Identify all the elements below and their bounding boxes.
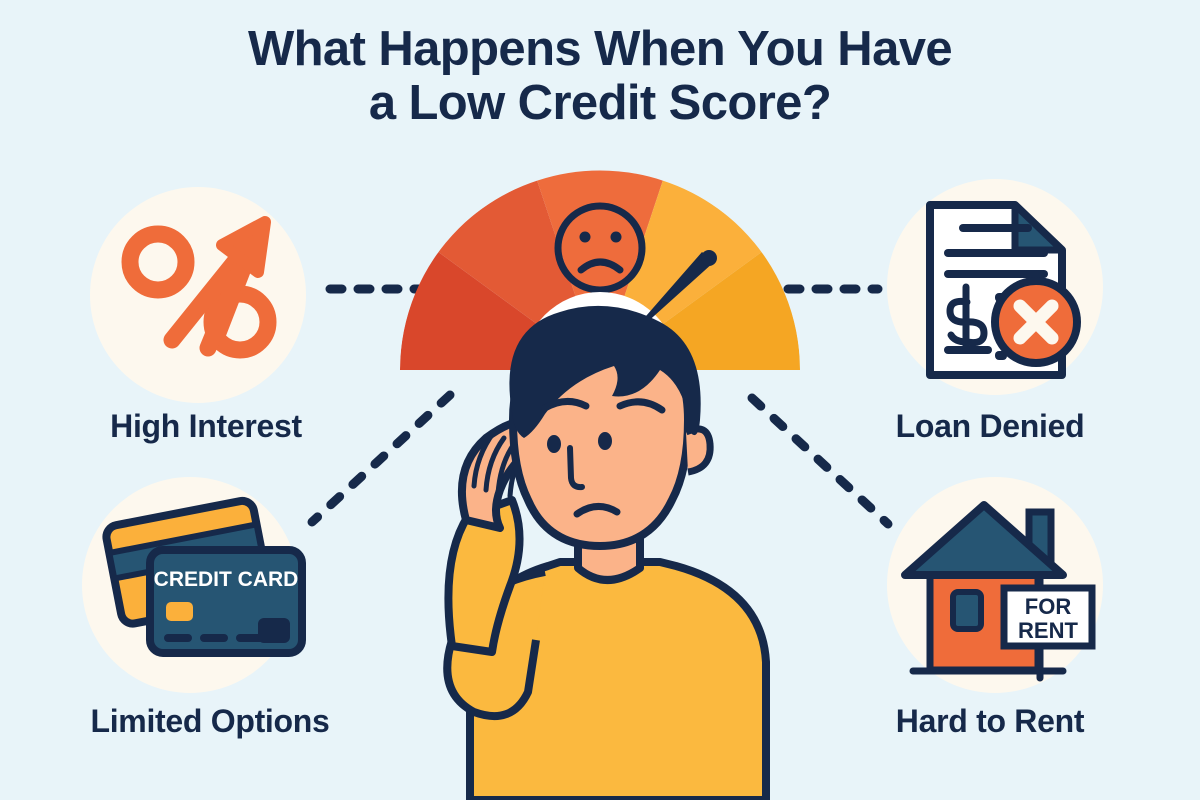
credit-card-text: CREDIT CARD bbox=[154, 568, 299, 591]
page-title: What Happens When You Have a Low Credit … bbox=[0, 22, 1200, 131]
person-eye-right bbox=[598, 432, 612, 450]
page-title-line-1: What Happens When You Have bbox=[0, 22, 1200, 76]
gauge-needle-tip bbox=[701, 250, 717, 266]
for-rent-sign-line1: FOR bbox=[1025, 594, 1072, 619]
person-eye-left bbox=[547, 435, 561, 453]
node-label-high-interest: High Interest bbox=[56, 408, 356, 445]
node-label-hard-to-rent: Hard to Rent bbox=[840, 703, 1140, 740]
worried-person-illustration bbox=[447, 306, 766, 800]
card-chip-icon bbox=[166, 602, 193, 621]
person-ear bbox=[686, 429, 710, 472]
page-title-line-2: a Low Credit Score? bbox=[0, 76, 1200, 130]
node-label-limited-options: Limited Options bbox=[50, 703, 370, 740]
denied-x-badge-icon bbox=[995, 281, 1077, 363]
for-rent-sign-line2: RENT bbox=[1018, 618, 1078, 643]
infographic-canvas: CREDIT CARD FOR RENT bbox=[0, 0, 1200, 800]
node-label-loan-denied: Loan Denied bbox=[840, 408, 1140, 445]
